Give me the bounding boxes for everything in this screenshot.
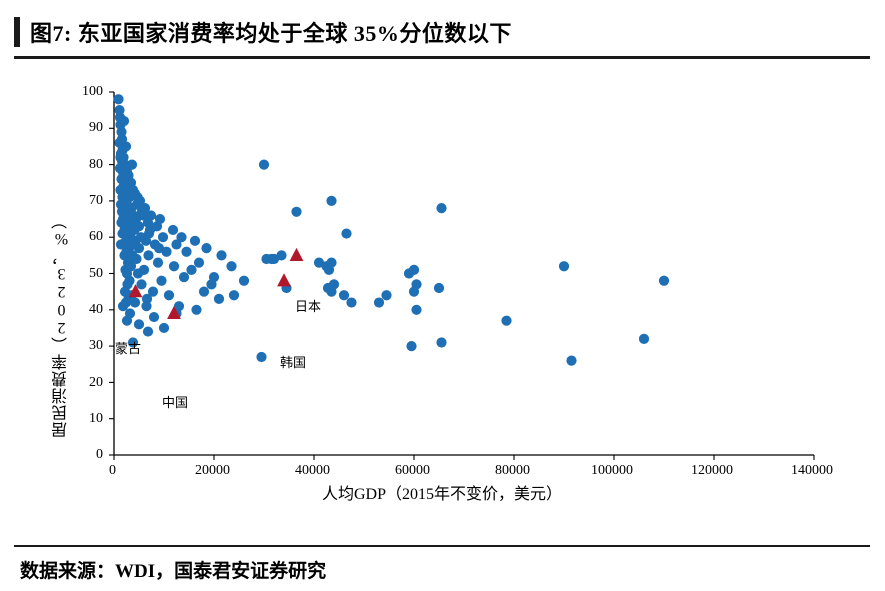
x-tick-label: 80000 — [495, 463, 530, 479]
data-point — [324, 265, 334, 275]
data-point — [130, 236, 140, 246]
data-point — [266, 254, 276, 264]
data-point — [659, 276, 669, 286]
data-point — [122, 316, 132, 326]
x-tick-label: 20000 — [195, 463, 230, 479]
data-point — [113, 94, 123, 104]
y-tick-label: 50 — [89, 266, 103, 282]
data-point — [122, 199, 132, 209]
x-tick-label: 60000 — [395, 463, 430, 479]
data-point — [116, 239, 126, 249]
point-label-china: 中国 — [162, 392, 188, 411]
data-point — [171, 239, 181, 249]
data-point — [115, 152, 125, 162]
data-point — [341, 228, 351, 238]
x-tick-label: 0 — [109, 463, 116, 479]
data-point — [119, 116, 129, 126]
data-points-layer — [113, 94, 669, 366]
y-tick-label: 40 — [89, 302, 103, 318]
data-point — [559, 261, 569, 271]
x-axis-title: 人均GDP（2015年不变价，美元） — [14, 480, 870, 504]
data-point — [434, 283, 444, 293]
data-point — [132, 192, 142, 202]
data-point — [168, 225, 178, 235]
data-point — [134, 319, 144, 329]
figure-page: 图7: 东亚国家消费率均处于全球 35%分位数以下 — [0, 0, 885, 591]
data-point — [138, 210, 148, 220]
data-point — [346, 297, 356, 307]
data-point — [406, 341, 416, 351]
data-point — [149, 312, 159, 322]
data-point — [114, 105, 124, 115]
data-point — [133, 268, 143, 278]
data-point — [226, 261, 236, 271]
data-point — [229, 290, 239, 300]
data-point-highlight — [277, 273, 291, 286]
data-point — [156, 276, 166, 286]
title-accent-bar — [14, 17, 20, 47]
data-point — [127, 160, 137, 170]
data-point — [276, 250, 286, 260]
data-point — [239, 276, 249, 286]
y-axis-title: 居民消费率（2023，%） — [50, 212, 76, 438]
x-tick-label: 140000 — [791, 463, 833, 479]
title-divider — [14, 56, 870, 59]
x-tick-label: 120000 — [691, 463, 733, 479]
y-tick-label: 70 — [89, 193, 103, 209]
data-point — [122, 228, 132, 238]
point-label-mongolia: 蒙古 — [115, 338, 141, 357]
data-point — [169, 261, 179, 271]
data-point-highlight — [290, 248, 304, 261]
page-title: 图7: 东亚国家消费率均处于全球 35%分位数以下 — [30, 16, 512, 48]
y-tick-label: 60 — [89, 229, 103, 245]
data-point — [186, 265, 196, 275]
data-point — [191, 305, 201, 315]
y-tick-label: 10 — [89, 411, 103, 427]
source-note: 数据来源：WDI，国泰君安证券研究 — [20, 556, 326, 583]
data-point — [153, 258, 163, 268]
data-point — [130, 297, 140, 307]
data-point — [259, 160, 269, 170]
data-point — [201, 243, 211, 253]
chart-canvas — [14, 62, 870, 540]
point-label-korea: 韩国 — [280, 352, 306, 371]
scatter-chart: 100 90 80 70 60 50 40 30 20 10 0 0 20000… — [14, 62, 870, 540]
data-point — [291, 207, 301, 217]
data-point — [256, 352, 266, 362]
data-point — [404, 268, 414, 278]
data-point — [326, 196, 336, 206]
y-tick-label: 90 — [89, 120, 103, 136]
x-axis-ticks — [114, 455, 814, 460]
x-tick-label: 100000 — [591, 463, 633, 479]
y-tick-label: 0 — [96, 447, 103, 463]
data-point — [436, 203, 446, 213]
data-point — [118, 170, 128, 180]
data-point — [381, 290, 391, 300]
data-point — [190, 236, 200, 246]
data-point — [121, 141, 131, 151]
data-point — [374, 297, 384, 307]
y-tick-label: 30 — [89, 338, 103, 354]
data-point — [411, 305, 421, 315]
point-label-japan: 日本 — [295, 296, 321, 315]
data-point — [339, 290, 349, 300]
data-point — [164, 290, 174, 300]
data-point — [566, 356, 576, 366]
data-point — [143, 250, 153, 260]
data-point — [436, 337, 446, 347]
y-tick-label: 20 — [89, 375, 103, 391]
y-tick-label: 100 — [82, 84, 103, 100]
data-point — [136, 279, 146, 289]
data-point — [199, 287, 209, 297]
data-point — [501, 316, 511, 326]
data-point — [639, 334, 649, 344]
data-point — [179, 272, 189, 282]
data-point — [194, 258, 204, 268]
data-point — [141, 301, 151, 311]
figure-title-bar: 图7: 东亚国家消费率均处于全球 35%分位数以下 — [14, 10, 870, 54]
data-point — [326, 287, 336, 297]
data-point — [206, 279, 216, 289]
footer-divider — [14, 545, 870, 547]
data-point — [154, 243, 164, 253]
data-point — [143, 326, 153, 336]
data-point — [145, 225, 155, 235]
x-tick-label: 40000 — [295, 463, 330, 479]
data-point — [181, 247, 191, 257]
data-point — [158, 232, 168, 242]
data-point — [216, 250, 226, 260]
data-point — [409, 287, 419, 297]
y-tick-label: 80 — [89, 157, 103, 173]
y-axis-ticks — [109, 92, 114, 455]
data-point — [159, 323, 169, 333]
data-point — [214, 294, 224, 304]
data-point — [120, 185, 130, 195]
